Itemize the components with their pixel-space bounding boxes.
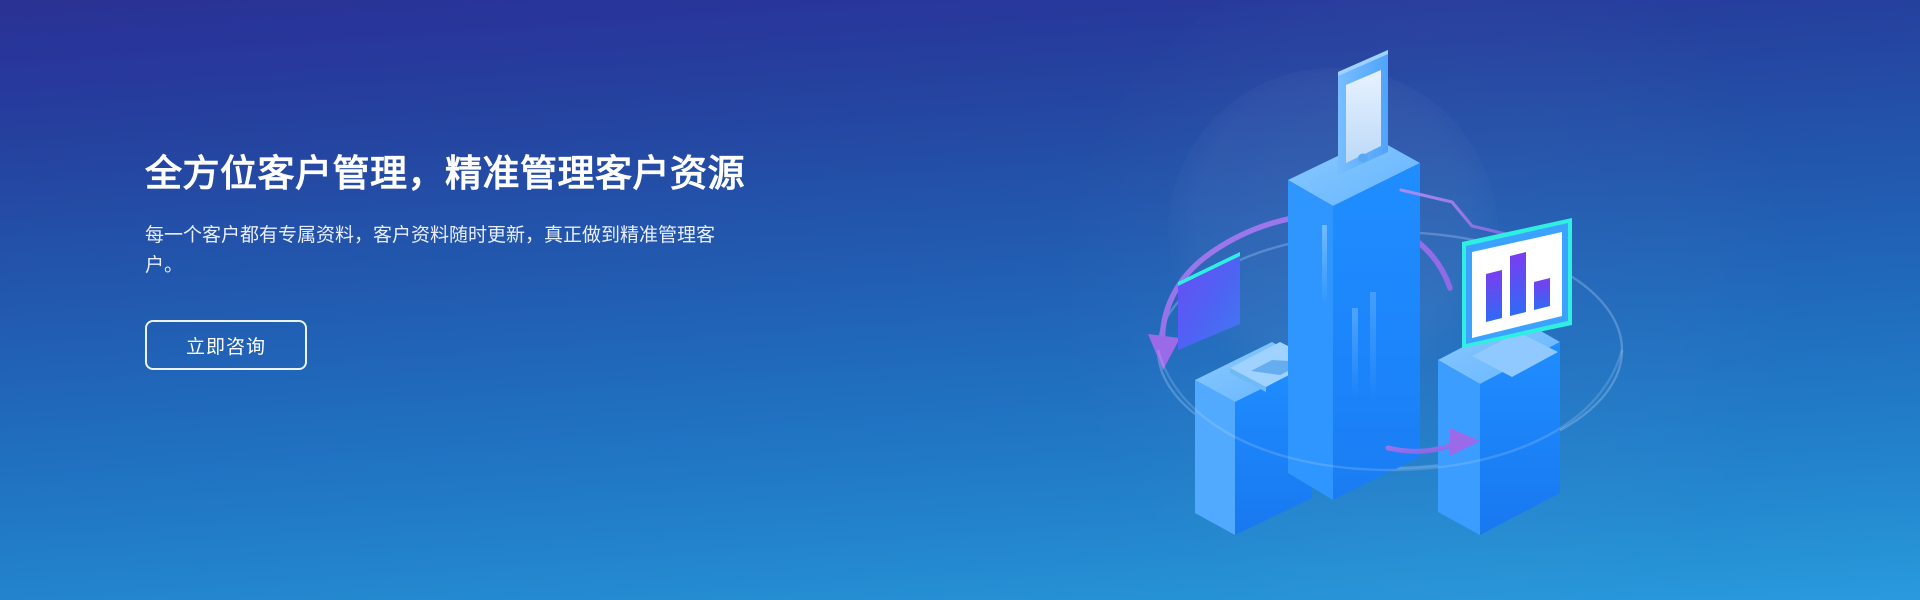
- monitor-chart-icon: [1462, 218, 1572, 377]
- hero-copy-block: 全方位客户管理，精准管理客户资源 每一个客户都有专属资料，客户资料随时更新，真正…: [145, 150, 785, 370]
- hero-subtitle: 每一个客户都有专属资料，客户资料随时更新，真正做到精准管理客户。: [145, 221, 745, 280]
- page-title: 全方位客户管理，精准管理客户资源: [145, 150, 785, 197]
- hero-illustration: [1120, 30, 1660, 570]
- consult-now-button[interactable]: 立即咨询: [145, 320, 307, 370]
- pillar-center: [1288, 138, 1420, 500]
- hero-banner: 全方位客户管理，精准管理客户资源 每一个客户都有专属资料，客户资料随时更新，真正…: [0, 0, 1920, 600]
